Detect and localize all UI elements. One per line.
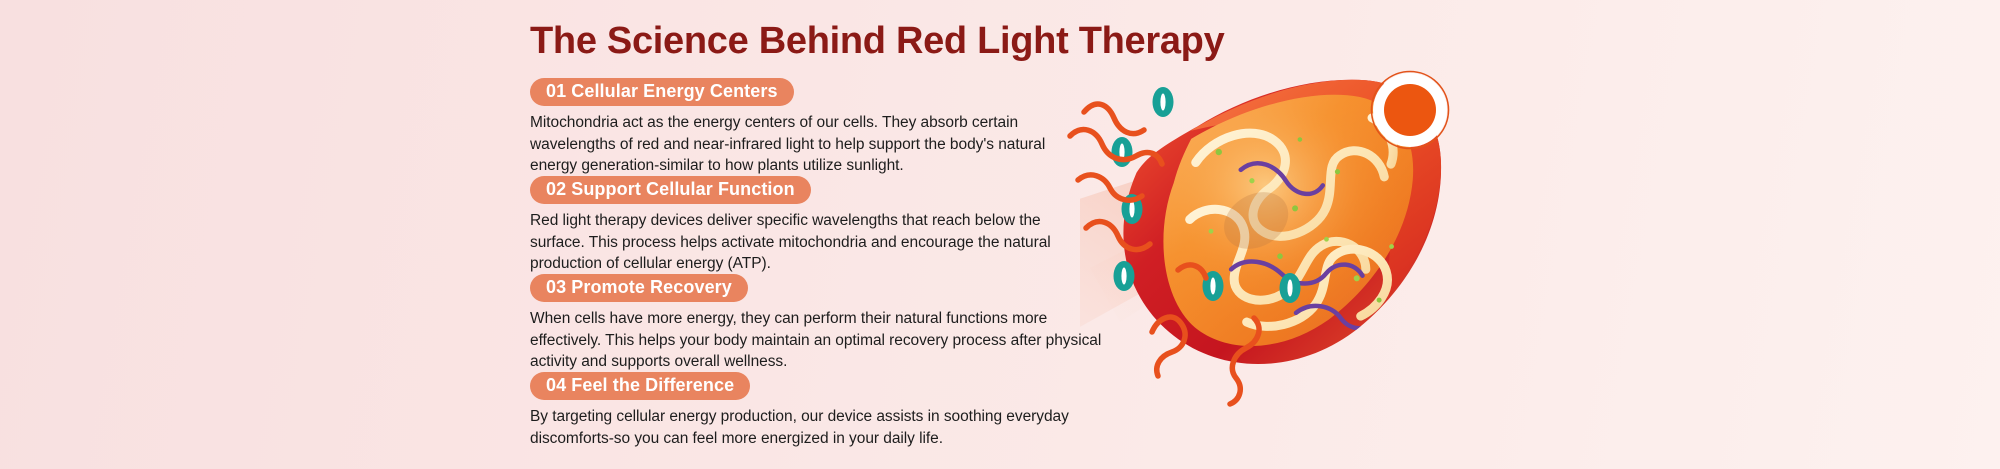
section-03: 03Promote Recovery When cells have more … <box>530 274 1110 373</box>
infographic-canvas: The Science Behind Red Light Therapy 01C… <box>0 0 2000 469</box>
section-body-01: Mitochondria act as the energy centers o… <box>530 112 1090 177</box>
mitochondria-illustration <box>1080 0 2000 469</box>
section-badge-01[interactable]: 01Cellular Energy Centers <box>530 78 794 106</box>
light-source-core <box>1384 84 1436 136</box>
page-title: The Science Behind Red Light Therapy <box>530 20 1224 63</box>
section-heading-04: Feel the Difference <box>571 375 734 395</box>
red-light-source <box>1372 72 1449 149</box>
section-01: 01Cellular Energy Centers Mitochondria a… <box>530 78 1090 177</box>
section-badge-02[interactable]: 02Support Cellular Function <box>530 176 811 204</box>
section-heading-03: Promote Recovery <box>571 277 732 297</box>
section-body-03: When cells have more energy, they can pe… <box>530 308 1110 373</box>
section-heading-02: Support Cellular Function <box>571 179 795 199</box>
section-badge-03[interactable]: 03Promote Recovery <box>530 274 748 302</box>
section-heading-01: Cellular Energy Centers <box>571 81 777 101</box>
section-number-04: 04 <box>546 375 566 395</box>
section-badge-04[interactable]: 04Feel the Difference <box>530 372 750 400</box>
section-body-02: Red light therapy devices deliver specif… <box>530 210 1090 275</box>
section-02: 02Support Cellular Function Red light th… <box>530 176 1090 275</box>
section-body-04: By targeting cellular energy production,… <box>530 406 1120 449</box>
section-04: 04Feel the Difference By targeting cellu… <box>530 372 1120 449</box>
illustration-svg <box>1080 0 2000 469</box>
section-number-01: 01 <box>546 81 566 101</box>
section-number-02: 02 <box>546 179 566 199</box>
text-content: The Science Behind Red Light Therapy 01C… <box>0 0 1120 469</box>
section-number-03: 03 <box>546 277 566 297</box>
